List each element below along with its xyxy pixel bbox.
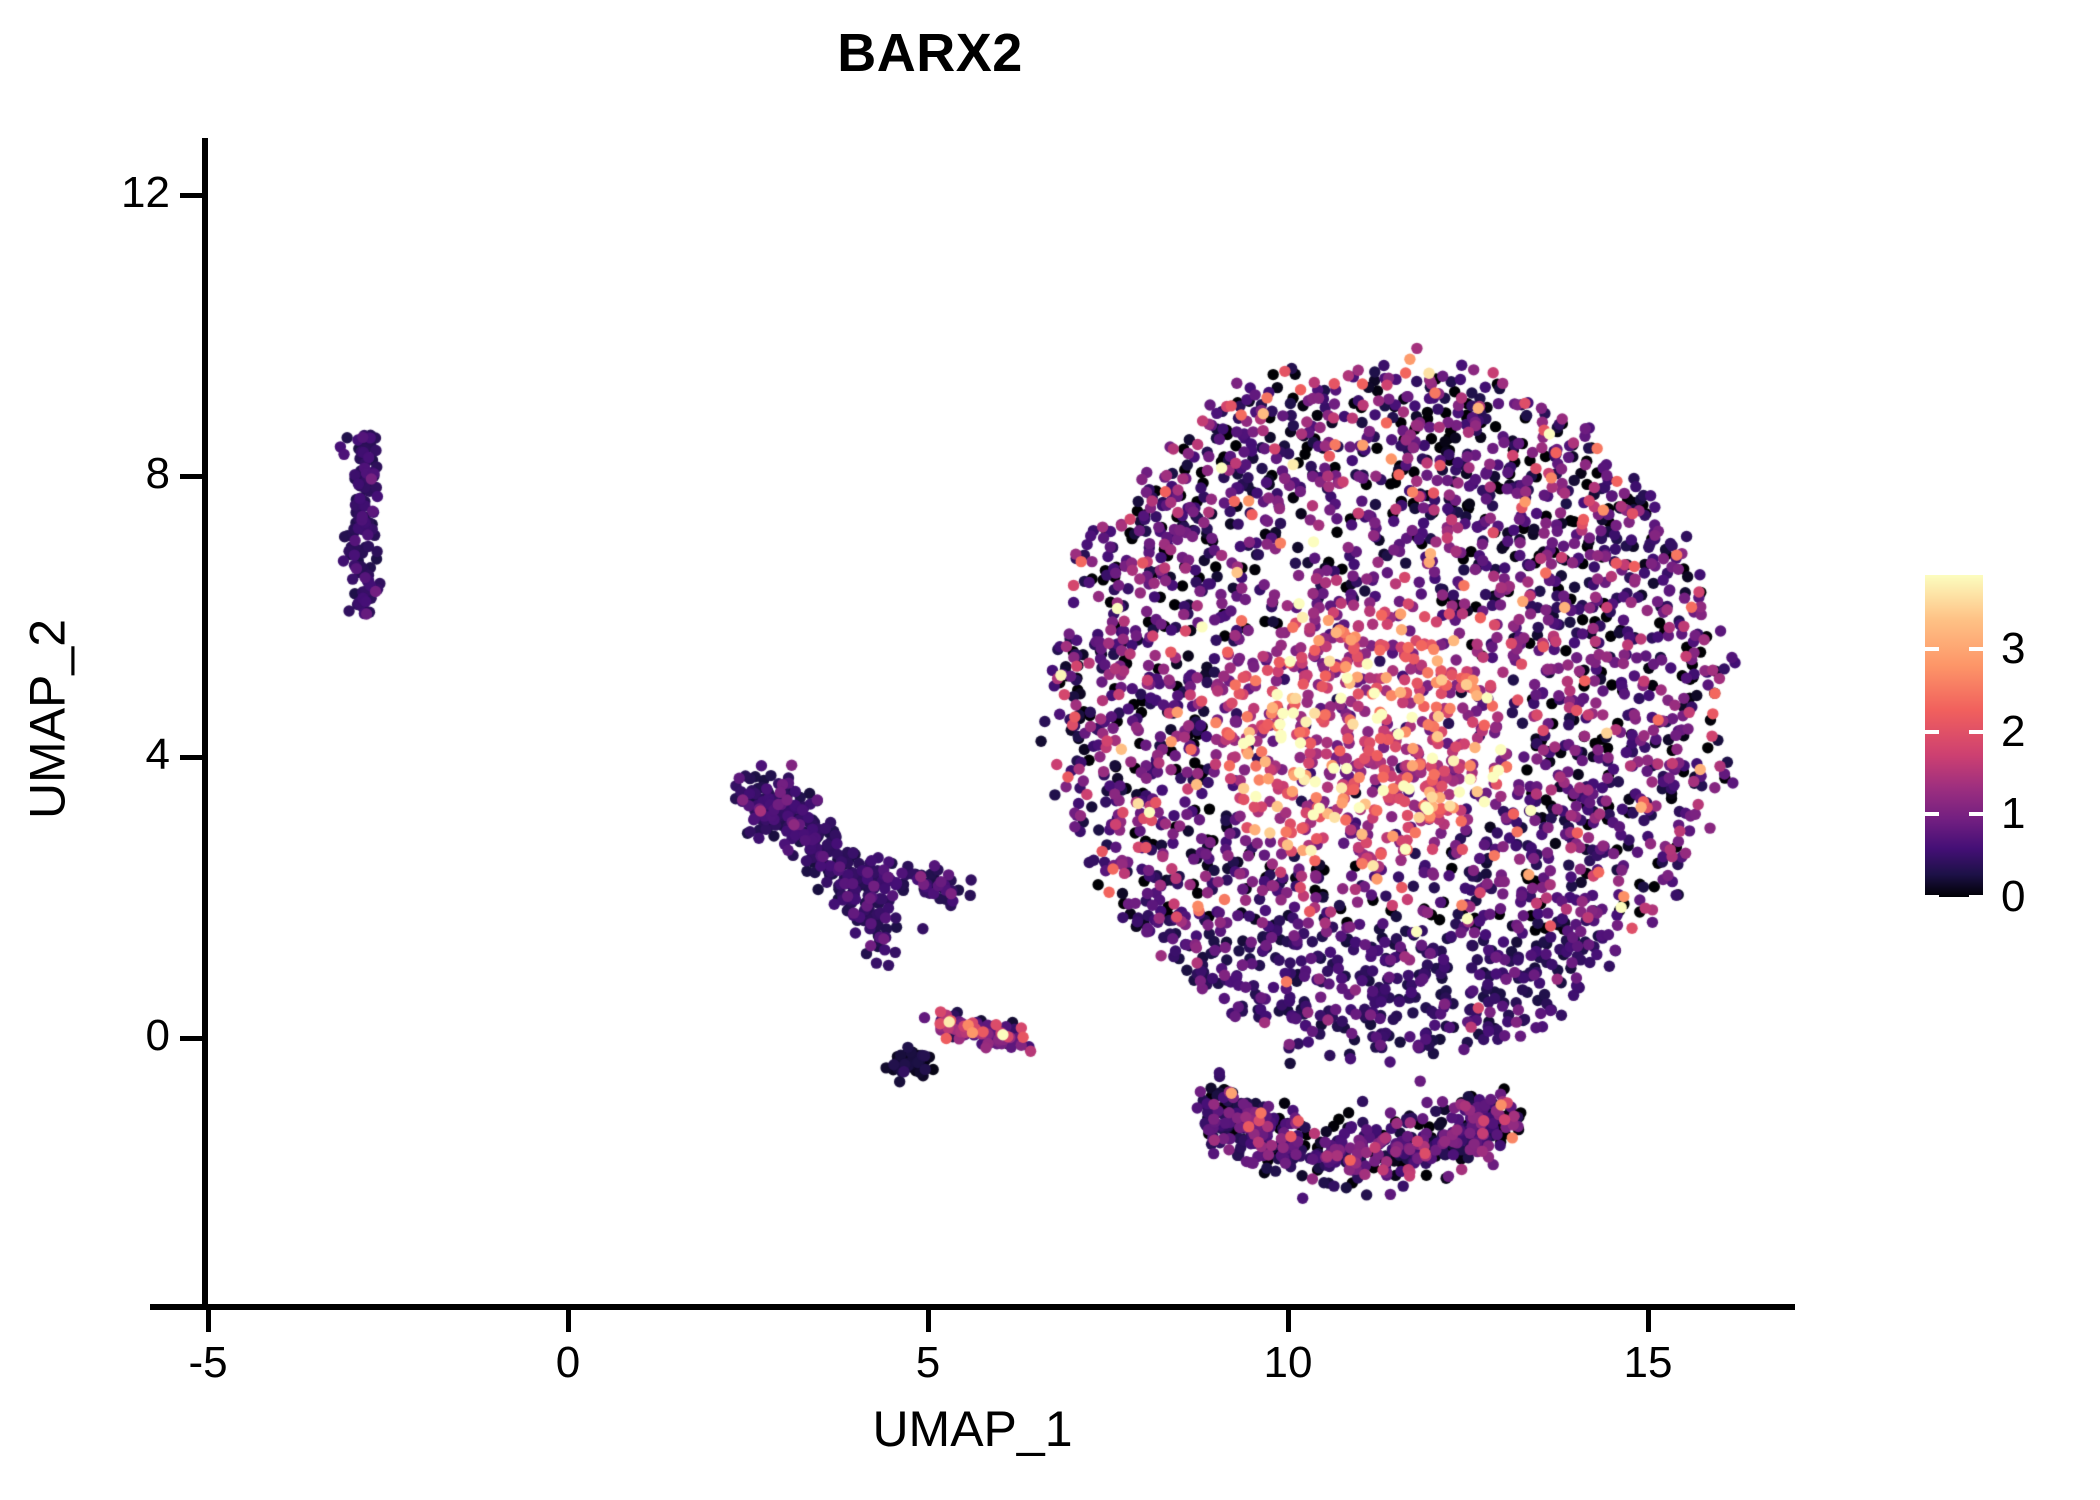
umap-feature-plot: BARX2 04812 -5051015 UMAP_1 UMAP_2 0123 [0,0,2100,1500]
colorbar-label-2: 2 [2001,707,2025,757]
x-tick-label-15: 15 [1548,1338,1748,1388]
x-tick-label--5: -5 [108,1338,308,1388]
y-tick-12 [180,193,202,198]
page-title: BARX2 [0,22,1860,84]
x-tick-15 [1646,1310,1651,1332]
colorbar-tick-0 [1969,895,1983,899]
x-tick-label-10: 10 [1188,1338,1388,1388]
x-tick-label-0: 0 [468,1338,668,1388]
colorbar-tick-1 [1969,812,1983,816]
colorbar-tick-3 [1969,647,1983,651]
colorbar-label-0: 0 [2001,872,2025,922]
colorbar-label-3: 3 [2001,624,2025,674]
y-axis-title: UMAP_2 [19,132,77,1307]
x-tick-5 [926,1310,931,1332]
x-tick-10 [1286,1310,1291,1332]
y-tick-8 [180,474,202,479]
y-tick-4 [180,755,202,760]
x-axis-line [150,1304,1795,1310]
colorbar-gradient [1925,575,1983,897]
colorbar-tick-2 [1925,730,1939,734]
x-axis-title: UMAP_1 [150,1400,1795,1458]
x-tick-label-5: 5 [828,1338,1028,1388]
colorbar-label-1: 1 [2001,789,2025,839]
colorbar-tick-1 [1925,812,1939,816]
x-tick--5 [206,1310,211,1332]
plot-panel [150,135,1795,1310]
y-tick-0 [180,1036,202,1041]
scatter-canvas [150,135,1795,1310]
colorbar-legend: 0123 [1925,575,1983,897]
colorbar-tick-2 [1969,730,1983,734]
y-axis-line [202,138,208,1310]
colorbar-tick-3 [1925,647,1939,651]
colorbar-tick-0 [1925,895,1939,899]
x-tick-0 [566,1310,571,1332]
